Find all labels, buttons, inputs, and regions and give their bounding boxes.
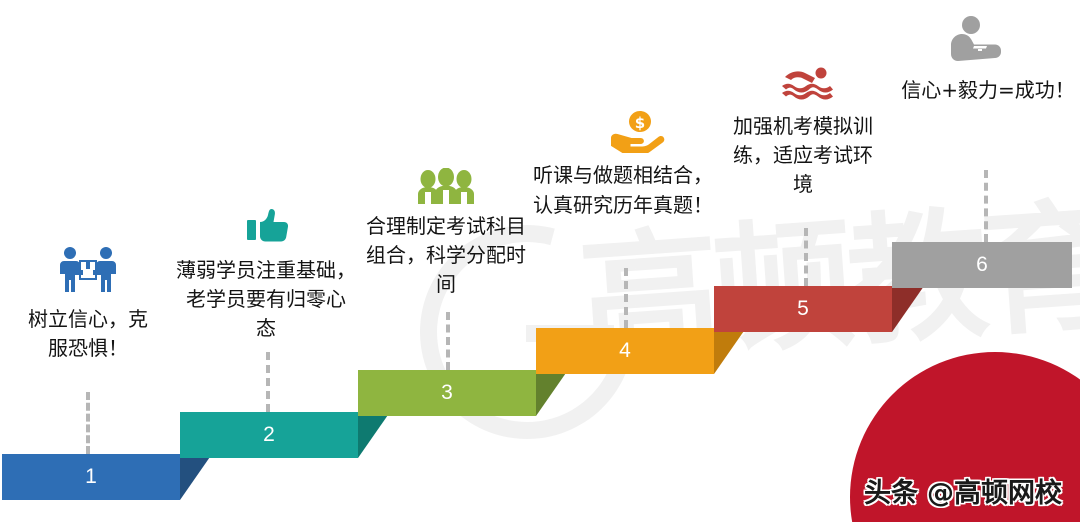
step-number-2: 2 (180, 412, 358, 458)
step-icon-2 (246, 205, 298, 249)
connector-line-3 (446, 312, 450, 370)
step-caption-3: 合理制定考试科目 组合，科学分配时 间 (352, 212, 540, 299)
connector-line-4 (624, 268, 628, 328)
step-number-1: 1 (2, 454, 180, 500)
connector-line-2 (266, 352, 270, 412)
step-caption-6: 信心+毅力=成功！ (900, 76, 1076, 105)
step-caption-1: 树立信心，克 服恐惧！ (4, 305, 172, 363)
step-side-1 (180, 454, 212, 500)
connector-line-1 (86, 392, 90, 454)
step-icon-3 (416, 166, 476, 206)
step-number-3: 3 (358, 370, 536, 416)
step-caption-4: 听课与做题相结合， 认真研究历年真题！ (528, 160, 718, 220)
step-icon-5 (780, 64, 836, 104)
step-caption-5: 加强机考模拟训 练，适应考试环 境 (722, 112, 884, 199)
step-icon-1 (58, 244, 118, 296)
connector-line-5 (804, 228, 808, 286)
swimmer-icon (781, 65, 835, 103)
step-number-4: 4 (536, 328, 714, 374)
infographic-stage: 高顿教育 1 树立信心，克 服恐惧！ 2 (0, 0, 1080, 522)
person-sitting-reading-icon (949, 15, 1009, 63)
step-side-4 (714, 328, 746, 374)
hand-holding-money-icon: $ (609, 109, 665, 153)
step-number-5: 5 (714, 286, 892, 332)
group-of-people-icon (417, 168, 475, 204)
step-icon-6 (948, 14, 1010, 64)
step-side-2 (358, 412, 390, 458)
connector-line-6 (984, 170, 988, 242)
svg-text:$: $ (635, 114, 645, 132)
step-side-5 (892, 286, 924, 332)
brand-footer: 头条 @高顿网校 (864, 471, 1062, 510)
thumbs-up-icon (247, 206, 297, 248)
step-icon-4: $ (608, 108, 666, 154)
brand-prefix: 头条 (864, 471, 918, 510)
brand-handle: @高顿网校 (927, 471, 1062, 510)
step-number-6: 6 (892, 242, 1072, 288)
two-people-carrying-box-icon (59, 246, 117, 294)
step-side-3 (536, 370, 568, 416)
step-caption-2: 薄弱学员注重基础， 老学员要有归零心 态 (162, 256, 370, 343)
